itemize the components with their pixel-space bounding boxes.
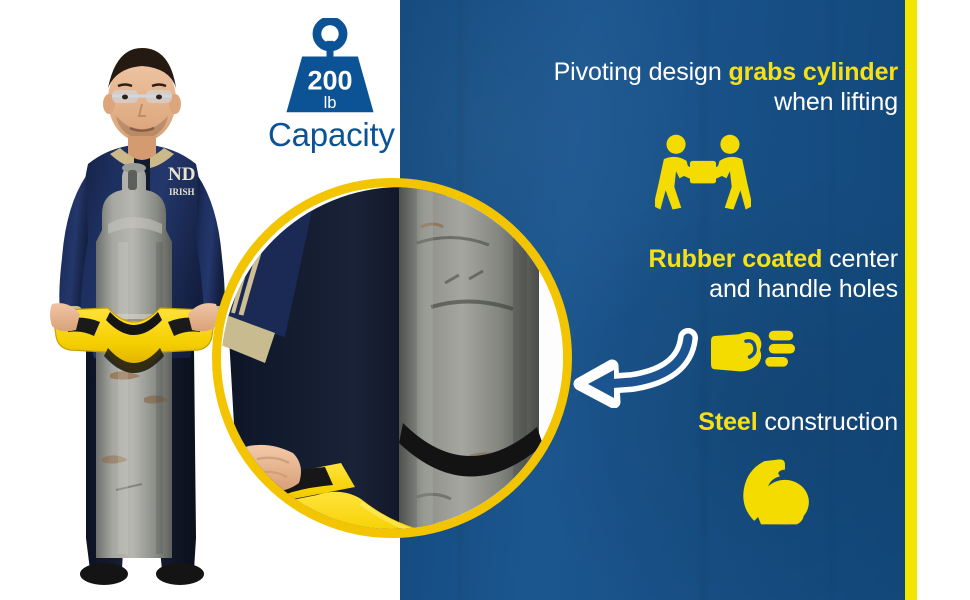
capacity-unit: lb [324,93,337,112]
closeup-detail-circle [212,178,572,538]
feature-pivoting-design: Pivoting design grabs cylinder when lift… [508,58,898,213]
svg-text:ND: ND [168,164,195,185]
two-people-lifting-icon [655,133,751,213]
product-infographic: ND IRISH [0,0,970,600]
weight-icon: 200 lb [276,18,384,116]
curved-arrow-to-handle [556,312,706,408]
svg-text:IRISH: IRISH [169,187,195,197]
feature-3-text: Steel construction [648,408,898,438]
feature-3-line1-plain: construction [758,408,898,436]
feature-steel-construction: Steel construction [648,408,898,528]
feature-1-line2: when lifting [774,88,898,116]
right-white-margin [917,0,970,600]
right-accent-stripe [905,0,917,600]
flexed-bicep-icon [732,454,814,528]
capacity-badge: 200 lb Capacity [268,18,392,151]
feature-1-text: Pivoting design grabs cylinder when lift… [508,58,898,117]
feature-2-text: Rubber coated center and handle holes [608,245,898,304]
capacity-value: 200 [307,66,352,96]
feature-2-highlight: Rubber coated [649,245,823,273]
capacity-label: Capacity [268,118,392,151]
closeup-detail-image [221,187,572,538]
fist-grip-icon [709,322,797,378]
feature-2-line2: and handle holes [709,275,898,303]
feature-2-line1-plain: center [822,245,898,273]
feature-1-line1-plain: Pivoting design [554,58,729,86]
feature-1-highlight: grabs cylinder [729,58,899,86]
feature-3-highlight: Steel [698,408,757,436]
